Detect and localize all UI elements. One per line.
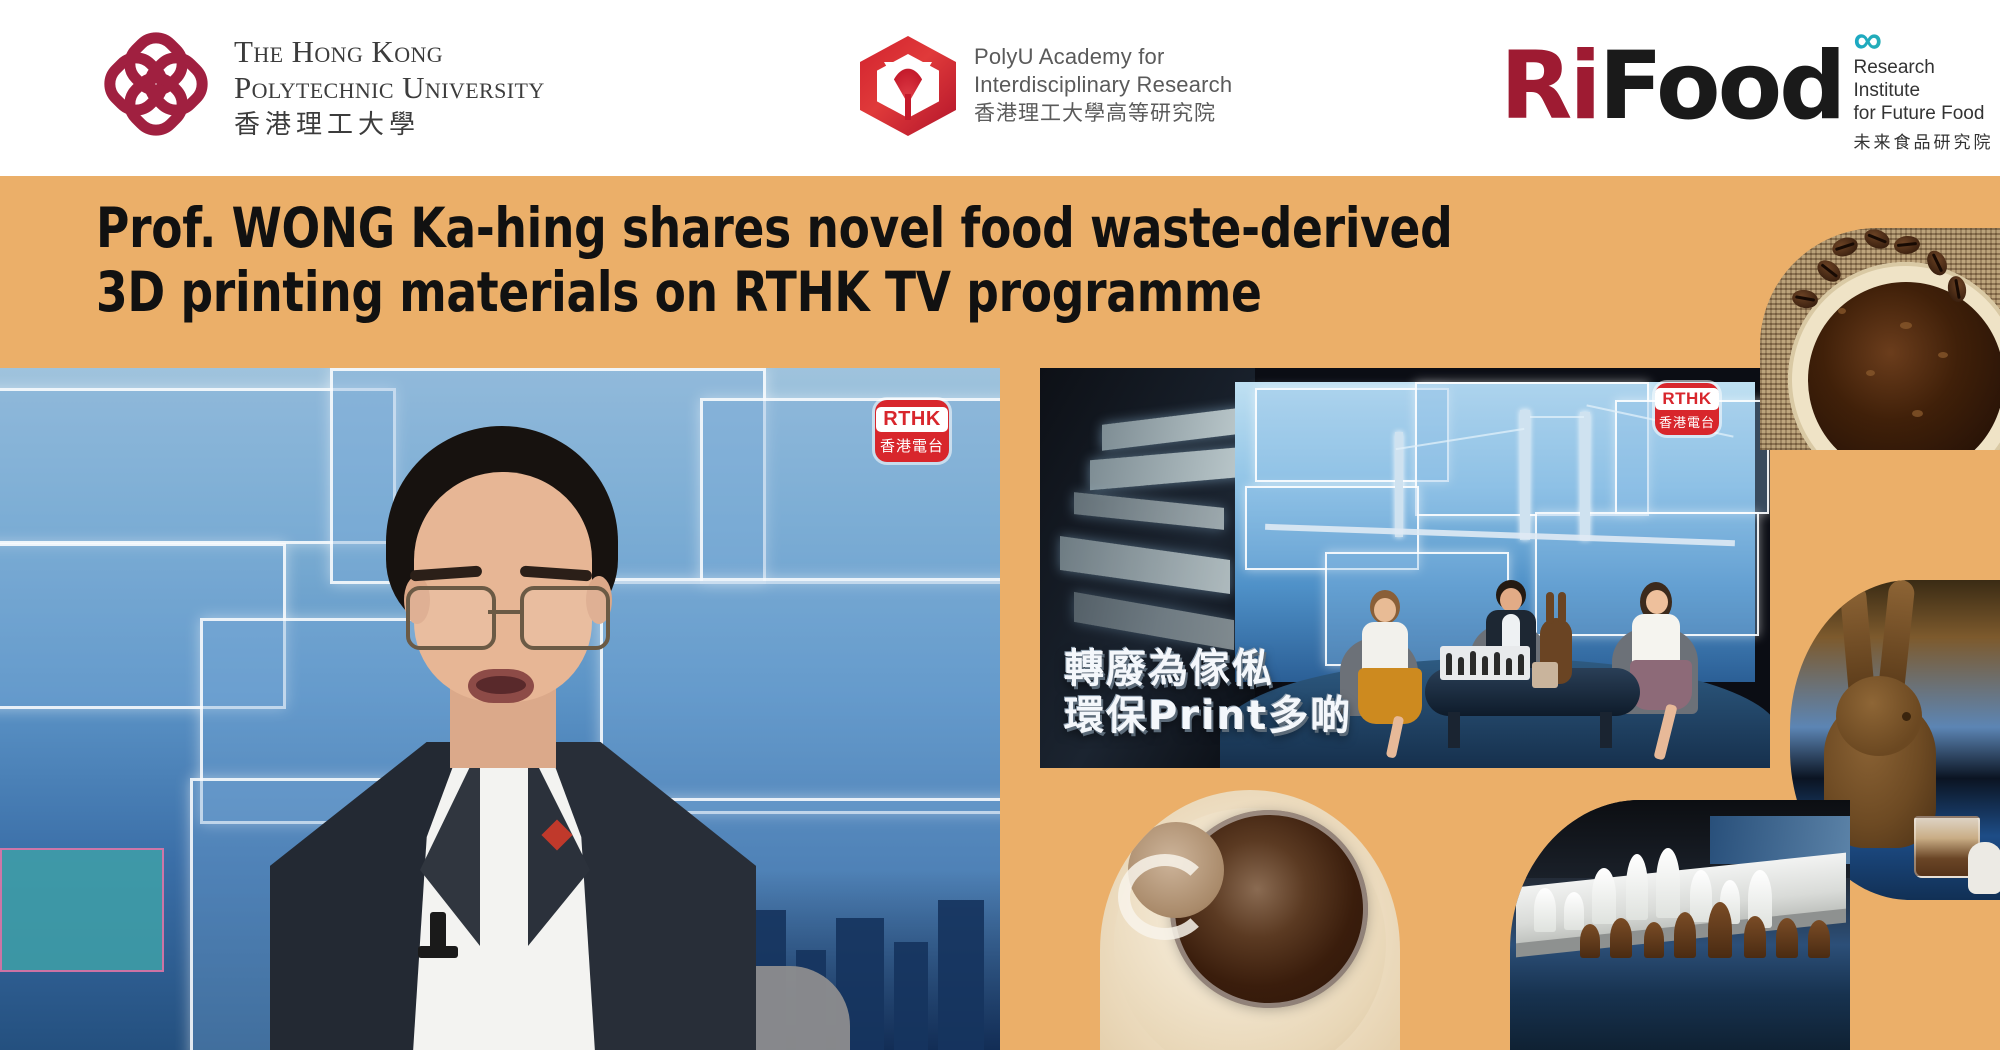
rthk-logo-watermark-studio: RTHK 香港電台 [1655,383,1719,435]
polyu-wordmark: The Hong Kong Polytechnic University 香港理… [234,34,545,142]
rthk-brand-text-studio: RTHK [1662,389,1711,409]
rifood-tagline: ∞ Research Institute for Future Food 未来食… [1853,22,2000,153]
headline-line-2: 3D printing materials on RTHK TV program… [96,260,1412,324]
polyu-knot-icon [100,32,212,144]
cup-on-table [1532,662,1558,688]
pair-chinese: 香港理工大學高等研究院 [974,100,1232,128]
pair-wordmark: PolyU Academy for Interdisciplinary Rese… [974,43,1232,129]
pair-line-1: PolyU Academy for [974,43,1232,71]
rthk-brand-text: RTHK [883,408,941,431]
logo-bar: The Hong Kong Polytechnic University 香港理… [0,0,2000,176]
chessboard-on-table [1440,646,1530,680]
pair-line-2: Interdisciplinary Research [974,71,1232,99]
polyu-line-1: The Hong Kong [234,34,545,70]
cup-handle [1118,854,1212,940]
news-banner-page: The Hong Kong Polytechnic University 香港理… [0,0,2000,1050]
infinity-icon: ∞ [1853,26,2000,54]
photo-3d-printed-chess-set [1510,800,1850,1050]
headline-line-1: Prof. WONG Ka-hing shares novel food was… [96,196,1412,260]
eyeglasses-icon [406,586,602,642]
logo-pair: PolyU Academy for Interdisciplinary Rese… [860,36,1232,136]
pair-cube-icon [860,36,956,136]
tv-subtitle-overlay: 轉廢為傢俬 環保Print多啲 [1064,646,1352,740]
tv-subtitle-line-2: 環保Print多啲 [1064,693,1352,740]
logo-polyu: The Hong Kong Polytechnic University 香港理… [100,32,545,144]
tv-subtitle-line-1: 轉廢為傢俬 [1064,646,1352,693]
rifood-line-2: for Future Food [1853,102,2000,125]
logo-rifood: RiFood ∞ Research Institute for Future F… [1500,22,2000,153]
polyu-chinese: 香港理工大學 [234,108,545,142]
photo-coffee-cup [1100,790,1400,1050]
rthk-logo-watermark-professor: RTHK 香港電台 [875,400,949,462]
rifood-line-1: Research Institute [1853,56,2000,102]
rthk-chinese-text: 香港電台 [880,435,944,456]
page-title: Prof. WONG Ka-hing shares novel food was… [96,196,1412,325]
rifood-prefix: Ri [1500,32,1599,141]
white-printed-rabbit [1968,842,2000,894]
rifood-wordmark: RiFood [1500,40,1843,134]
polyu-line-2: Polytechnic University [234,70,545,106]
rthk-chinese-text-studio: 香港電台 [1659,412,1715,431]
rifood-chinese: 未来食品研究院 [1853,128,2000,153]
photo-professor-interview [0,368,1000,1050]
photo-coffee-grounds [1760,228,2000,450]
professor-portrait [300,426,720,1050]
rifood-suffix: Food [1599,32,1844,141]
